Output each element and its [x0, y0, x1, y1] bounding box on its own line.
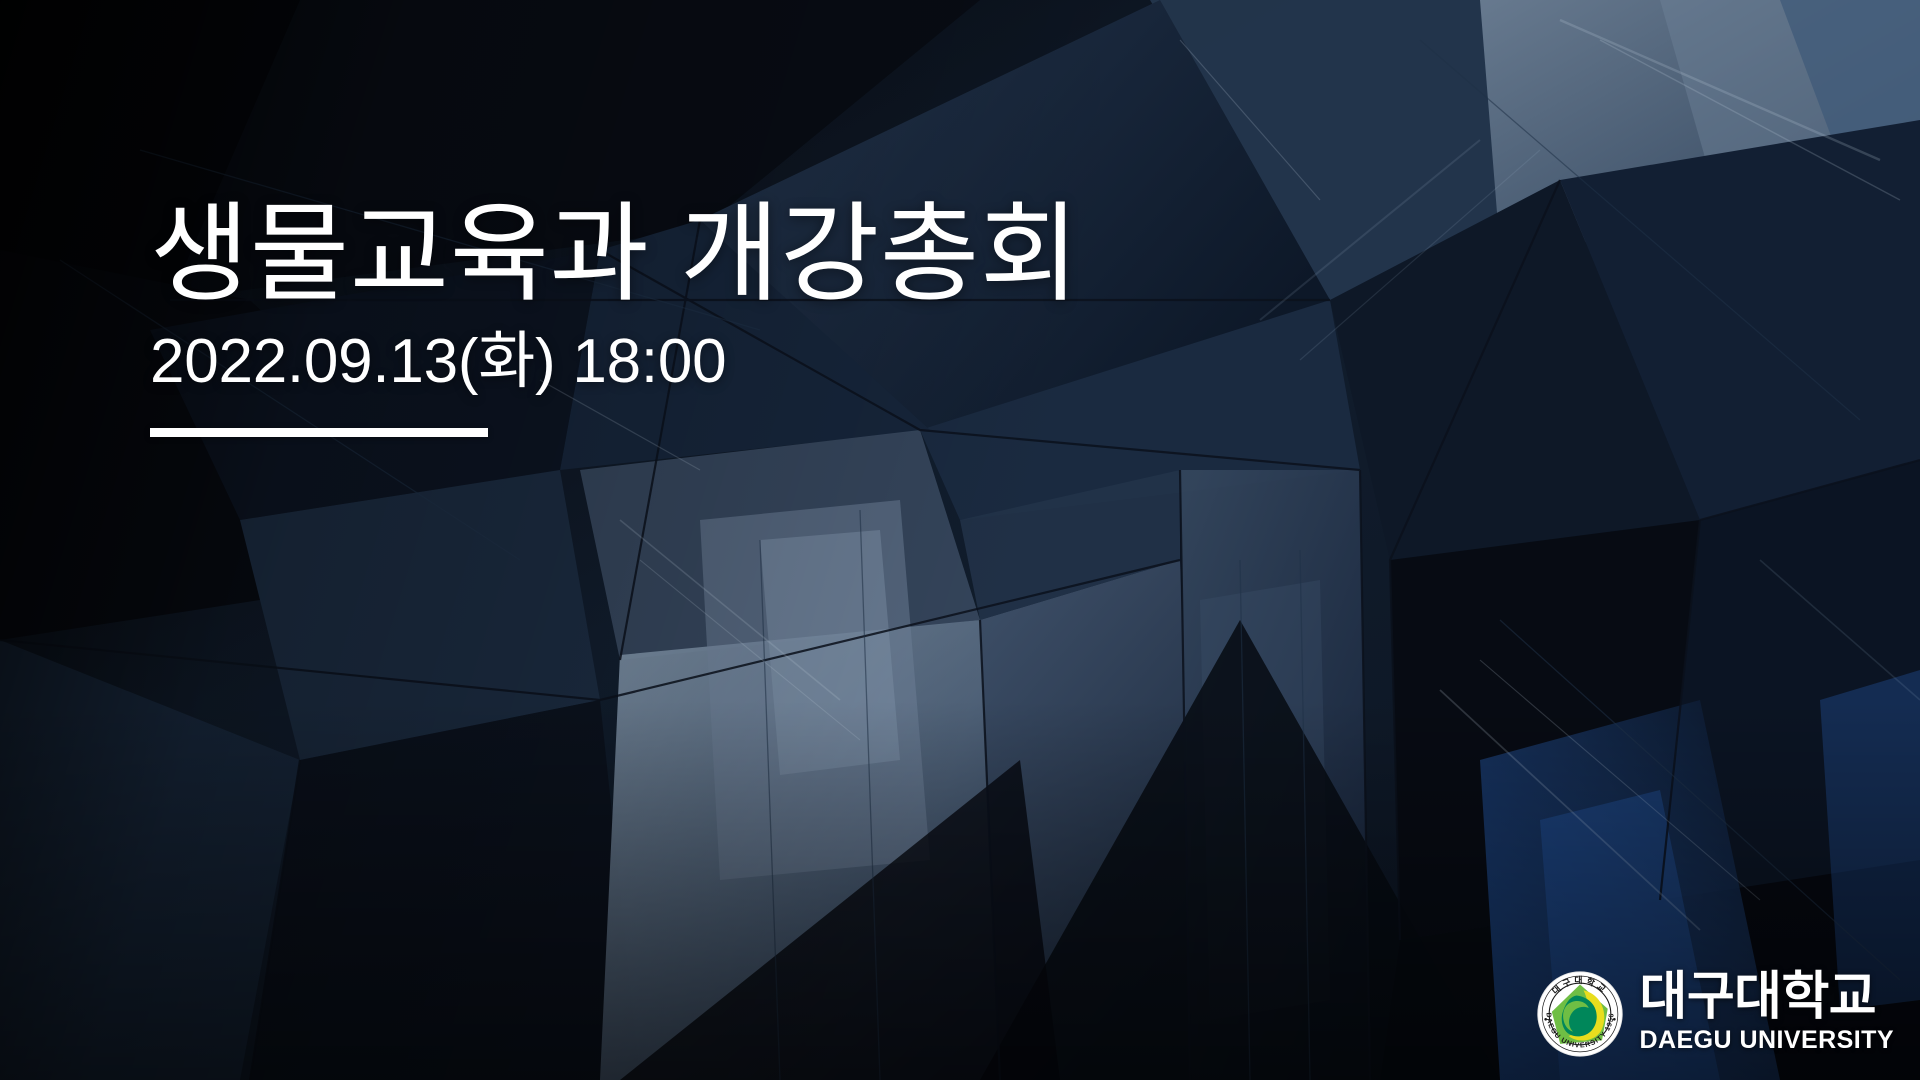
daegu-university-seal-icon: 대구대학교 DAEGU UNIVERSITY 1956 [1536, 970, 1624, 1058]
title-underline-rule [150, 428, 488, 437]
presentation-slide: 생물교육과 개강총회 2022.09.13(화) 18:00 대구대학교 [0, 0, 1920, 1080]
university-name-en: DAEGU UNIVERSITY [1640, 1028, 1894, 1053]
page-title: 생물교육과 개강총회 [150, 196, 1400, 313]
event-datetime: 2022.09.13(화) 18:00 [150, 327, 1400, 396]
slide-text-block: 생물교육과 개강총회 2022.09.13(화) 18:00 [150, 196, 1400, 437]
faceted-background-art [0, 0, 1920, 1080]
university-wordmark: 대구대학교 DAEGU UNIVERSITY [1640, 971, 1894, 1057]
university-logo-lockup: 대구대학교 DAEGU UNIVERSITY 1956 대구대학교 DAEGU … [1536, 970, 1894, 1058]
university-name-ko: 대구대학교 [1640, 971, 1877, 1023]
